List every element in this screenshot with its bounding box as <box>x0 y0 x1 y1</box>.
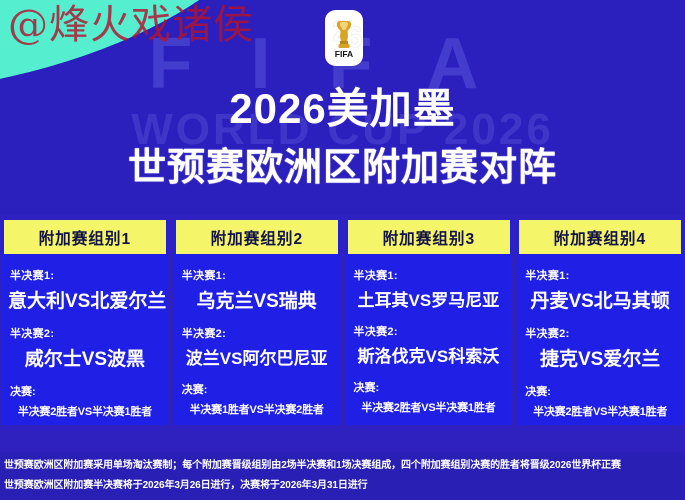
semifinal-2-match: 波兰VS阿尔巴尼亚 <box>180 344 334 369</box>
poster-title: 2026美加墨 <box>0 86 685 132</box>
final-match: 半决赛2胜者VS半决赛1胜者 <box>352 399 506 415</box>
semifinal-1-label: 半决赛1: <box>10 267 162 283</box>
footer-notes: 世预赛欧洲区附加赛采用单场淘汰赛制；每个附加赛晋级组别由2场半决赛和1场决赛组成… <box>0 452 685 500</box>
final-match: 半决赛2胜者VS半决赛1胜者 <box>523 403 677 419</box>
semifinal-1-label: 半决赛1: <box>354 267 506 283</box>
card-header-group-3: 附加赛组别3 <box>347 220 509 254</box>
card-body-group-4: 半决赛1: 丹麦VS北马其顿 半决赛2: 捷克VS爱尔兰 决赛: 半决赛2胜者V… <box>517 254 683 419</box>
final-label: 决赛: <box>525 383 677 399</box>
playoff-card-2: 附加赛组别2 半决赛1: 乌克兰VS瑞典 半决赛2: 波兰VS阿尔巴尼亚 决赛:… <box>174 220 340 425</box>
playoff-card-4: 附加赛组别4 半决赛1: 丹麦VS北马其顿 半决赛2: 捷克VS爱尔兰 决赛: … <box>517 220 683 425</box>
final-label: 决赛: <box>10 383 162 399</box>
final-match: 半决赛1胜者VS半决赛2胜者 <box>180 401 334 417</box>
card-body-group-1: 半决赛1: 意大利VS北爱尔兰 半决赛2: 威尔士VS波黑 决赛: 半决赛2胜者… <box>2 254 168 419</box>
card-header-group-1: 附加赛组别1 <box>4 220 166 254</box>
fifa-world-cup-2026-logo: 2 6 FIFA <box>322 7 366 69</box>
semifinal-1-label: 半决赛1: <box>182 267 334 283</box>
footer-line-2: 世预赛欧洲区附加赛半决赛将于2026年3月26日进行，决赛将于2026年3月31… <box>4 476 681 496</box>
fifa-logo-text: FIFA <box>335 49 353 59</box>
world-cup-playoff-poster: FIFA WORLD CUP 2026 @烽火戏诸侯 2 6 FIFA 2026… <box>0 0 685 500</box>
semifinal-2-label: 半决赛2: <box>525 325 677 341</box>
semifinal-2-match: 威尔士VS波黑 <box>8 344 162 371</box>
card-body-group-2: 半决赛1: 乌克兰VS瑞典 半决赛2: 波兰VS阿尔巴尼亚 决赛: 半决赛1胜者… <box>174 254 340 417</box>
playoff-card-1: 附加赛组别1 半决赛1: 意大利VS北爱尔兰 半决赛2: 威尔士VS波黑 决赛:… <box>2 220 168 425</box>
card-header-group-2: 附加赛组别2 <box>176 220 338 254</box>
semifinal-1-match: 丹麦VS北马其顿 <box>523 286 677 313</box>
final-label: 决赛: <box>182 381 334 397</box>
semifinal-2-label: 半决赛2: <box>10 325 162 341</box>
semifinal-2-match: 捷克VS爱尔兰 <box>523 344 677 371</box>
poster-subtitle: 世预赛欧洲区附加赛对阵 <box>0 148 685 190</box>
semifinal-2-label: 半决赛2: <box>354 323 506 339</box>
card-header-group-4: 附加赛组别4 <box>519 220 681 254</box>
footer-line-1: 世预赛欧洲区附加赛采用单场淘汰赛制；每个附加赛晋级组别由2场半决赛和1场决赛组成… <box>4 456 681 476</box>
semifinal-1-label: 半决赛1: <box>525 267 677 283</box>
final-match: 半决赛2胜者VS半决赛1胜者 <box>8 403 162 419</box>
semifinal-2-match: 斯洛伐克VS科索沃 <box>352 342 506 367</box>
semifinal-2-label: 半决赛2: <box>182 325 334 341</box>
semifinal-1-match: 意大利VS北爱尔兰 <box>8 286 162 313</box>
final-label: 决赛: <box>354 379 506 395</box>
semifinal-1-match: 乌克兰VS瑞典 <box>180 286 334 313</box>
playoff-group-cards: 附加赛组别1 半决赛1: 意大利VS北爱尔兰 半决赛2: 威尔士VS波黑 决赛:… <box>0 220 685 425</box>
playoff-card-3: 附加赛组别3 半决赛1: 土耳其VS罗马尼亚 半决赛2: 斯洛伐克VS科索沃 决… <box>346 220 512 425</box>
semifinal-1-match: 土耳其VS罗马尼亚 <box>352 286 506 311</box>
card-body-group-3: 半决赛1: 土耳其VS罗马尼亚 半决赛2: 斯洛伐克VS科索沃 决赛: 半决赛2… <box>346 254 512 415</box>
